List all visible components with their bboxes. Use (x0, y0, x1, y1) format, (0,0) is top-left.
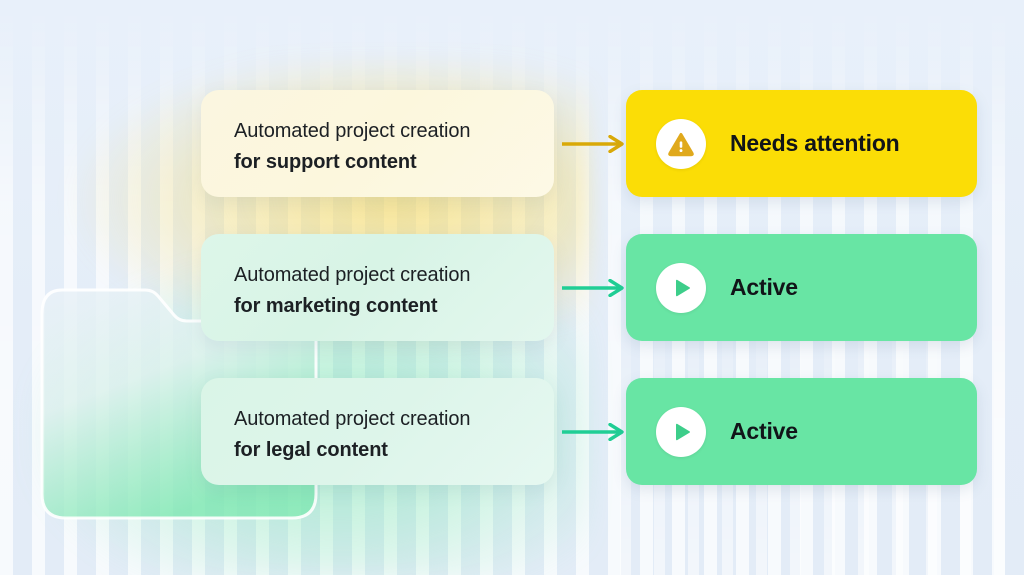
status-badge-needs-attention[interactable]: Needs attention (626, 90, 977, 197)
task-card-marketing[interactable]: Automated project creation for marketing… (201, 234, 554, 341)
diagram-canvas: Automated project creation for support c… (0, 0, 1024, 575)
task-card-line2: for marketing content (234, 291, 554, 322)
task-card-line1: Automated project creation (234, 116, 554, 147)
arrow-connector-marketing (562, 279, 628, 297)
automation-row-legal: Automated project creation for legal con… (0, 378, 1024, 488)
status-badge-label: Active (730, 418, 798, 445)
task-card-line1: Automated project creation (234, 404, 554, 435)
task-card-line1: Automated project creation (234, 260, 554, 291)
automation-rows: Automated project creation for support c… (0, 0, 1024, 575)
status-badge-active-legal[interactable]: Active (626, 378, 977, 485)
task-card-legal[interactable]: Automated project creation for legal con… (201, 378, 554, 485)
play-icon (656, 263, 706, 313)
status-badge-label: Needs attention (730, 130, 900, 157)
status-badge-label: Active (730, 274, 798, 301)
task-card-line2: for legal content (234, 435, 554, 466)
task-card-support[interactable]: Automated project creation for support c… (201, 90, 554, 197)
play-icon (656, 407, 706, 457)
arrow-connector-legal (562, 423, 628, 441)
status-badge-active-marketing[interactable]: Active (626, 234, 977, 341)
warning-triangle-icon (656, 119, 706, 169)
automation-row-support: Automated project creation for support c… (0, 90, 1024, 200)
arrow-connector-support (562, 135, 628, 153)
task-card-line2: for support content (234, 147, 554, 178)
automation-row-marketing: Automated project creation for marketing… (0, 234, 1024, 344)
